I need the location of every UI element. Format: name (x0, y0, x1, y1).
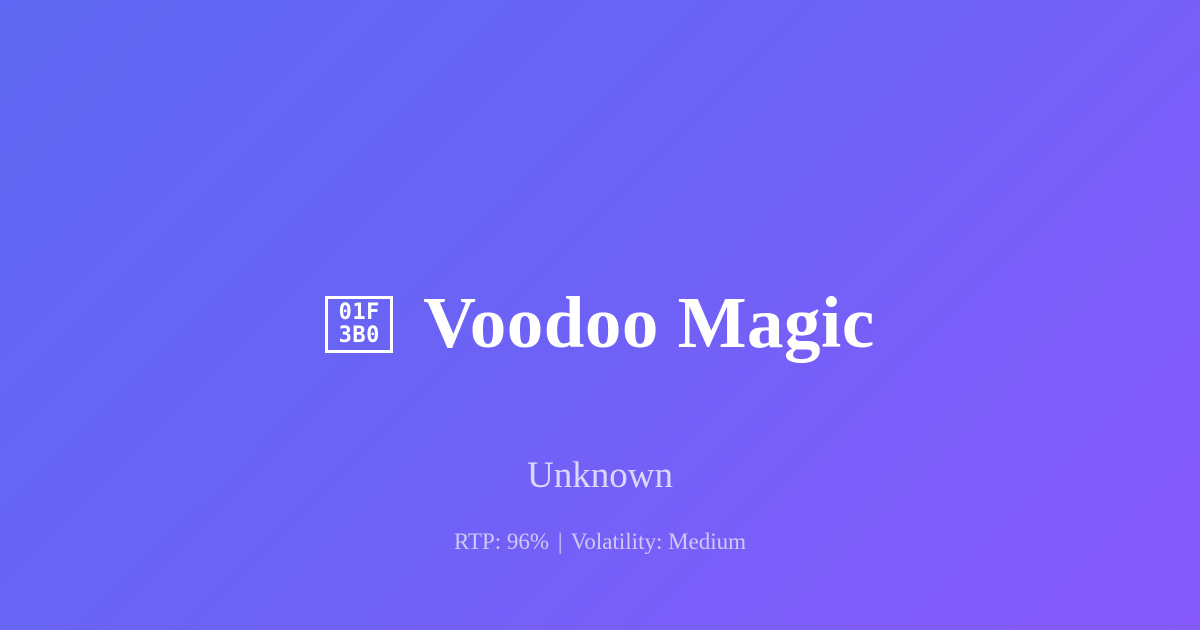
game-title: Voodoo Magic (423, 285, 874, 362)
og-share-card: 01F 3B0 Voodoo Magic Unknown RTP: 96% | … (0, 0, 1200, 630)
volatility-value: Medium (668, 529, 746, 554)
slot-machine-icon-codepoint-high: 01F (339, 301, 380, 324)
rtp-value: 96% (507, 529, 549, 554)
title-row: 01F 3B0 Voodoo Magic (325, 236, 874, 410)
volatility-label: Volatility: (571, 529, 663, 554)
hero-block: 01F 3B0 Voodoo Magic Unknown (0, 236, 1200, 497)
slot-machine-icon: 01F 3B0 (325, 296, 393, 353)
provider-name: Unknown (527, 456, 673, 497)
game-meta-line: RTP: 96% | Volatility: Medium (0, 528, 1200, 556)
slot-machine-icon-codepoint-low: 3B0 (339, 324, 380, 347)
rtp-label: RTP: (454, 529, 501, 554)
meta-separator: | (555, 529, 566, 554)
